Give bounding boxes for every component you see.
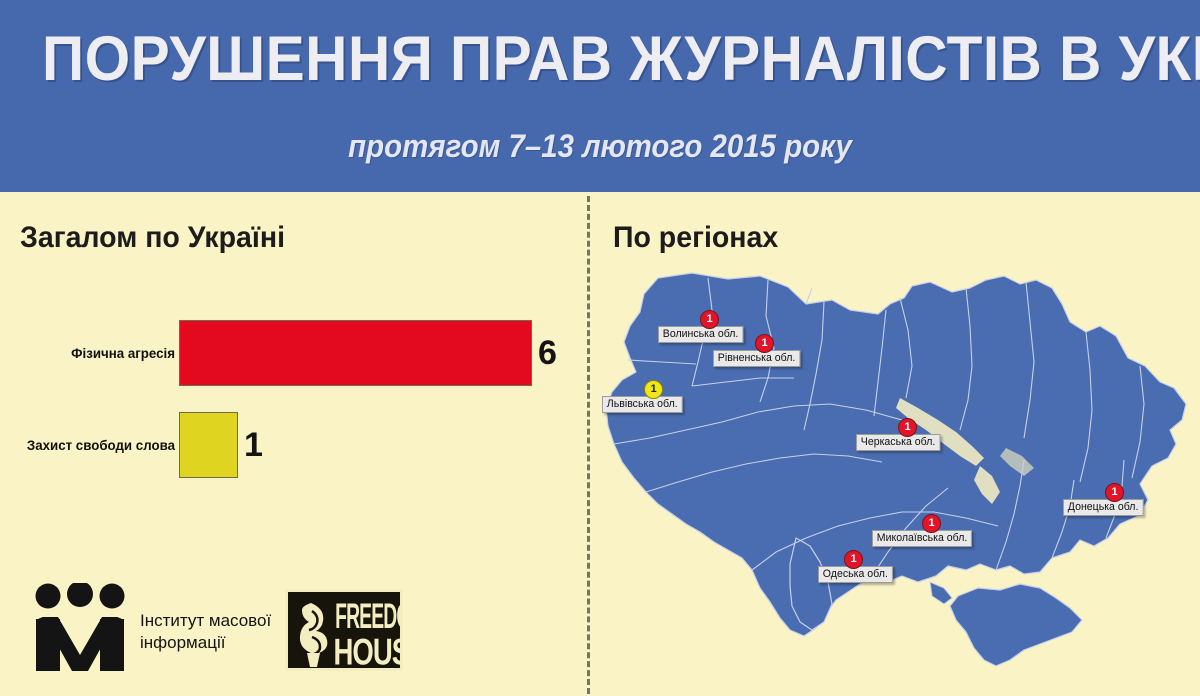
right-panel-heading: По регіонах [613,221,778,255]
infographic-page: ПОРУШЕННЯ ПРАВ ЖУРНАЛІСТІВ В УКРАЇНІ про… [0,0,1200,696]
imi-name-line2: інформації [140,632,300,654]
page-title: ПОРУШЕННЯ ПРАВ ЖУРНАЛІСТІВ В УКРАЇНІ [42,26,1158,92]
map-marker-red[interactable]: 1 [922,514,941,533]
left-panel-heading: Загалом по Україні [20,221,285,255]
page-subtitle: протягом 7–13 лютого 2015 року [48,128,1152,165]
map-marker-red[interactable]: 1 [700,310,719,329]
map-region-label: Миколаївська обл. [872,530,972,547]
bar-label-freedom-of-speech: Захист свободи слова [9,437,175,453]
bar-label-physical-aggression: Фізична агресія [9,345,175,361]
header-banner: ПОРУШЕННЯ ПРАВ ЖУРНАЛІСТІВ В УКРАЇНІ про… [0,0,1200,192]
map-region-label: Донецька обл. [1063,499,1143,516]
ukraine-map[interactable]: Волинська обл.1Рівненська обл.1Львівська… [600,270,1200,690]
bar-physical-aggression [179,320,532,386]
bar-value-freedom-of-speech: 1 [244,426,263,465]
map-marker-red[interactable]: 1 [844,550,863,569]
map-region-label: Черкаська обл. [856,434,940,451]
map-marker-red[interactable]: 1 [898,418,917,437]
map-marker-yellow[interactable]: 1 [644,380,663,399]
bar-freedom-of-speech [179,412,238,478]
svg-text:HOUSE: HOUSE [333,630,403,671]
imi-name-line1: Інститут масової [140,610,300,632]
bar-value-physical-aggression: 6 [538,334,557,373]
map-region-label: Волинська обл. [658,326,743,343]
map-marker-red[interactable]: 1 [1105,483,1124,502]
imi-name: Інститут масової інформації [140,610,300,654]
map-region-label: Львівська обл. [602,396,682,413]
freedom-house-logo-icon: FREEDOM HOUSE [285,589,403,671]
imi-logo-icon [32,583,128,671]
map-region-label: Рівненська обл. [713,350,800,367]
panel-divider [587,196,590,694]
map-marker-red[interactable]: 1 [755,334,774,353]
